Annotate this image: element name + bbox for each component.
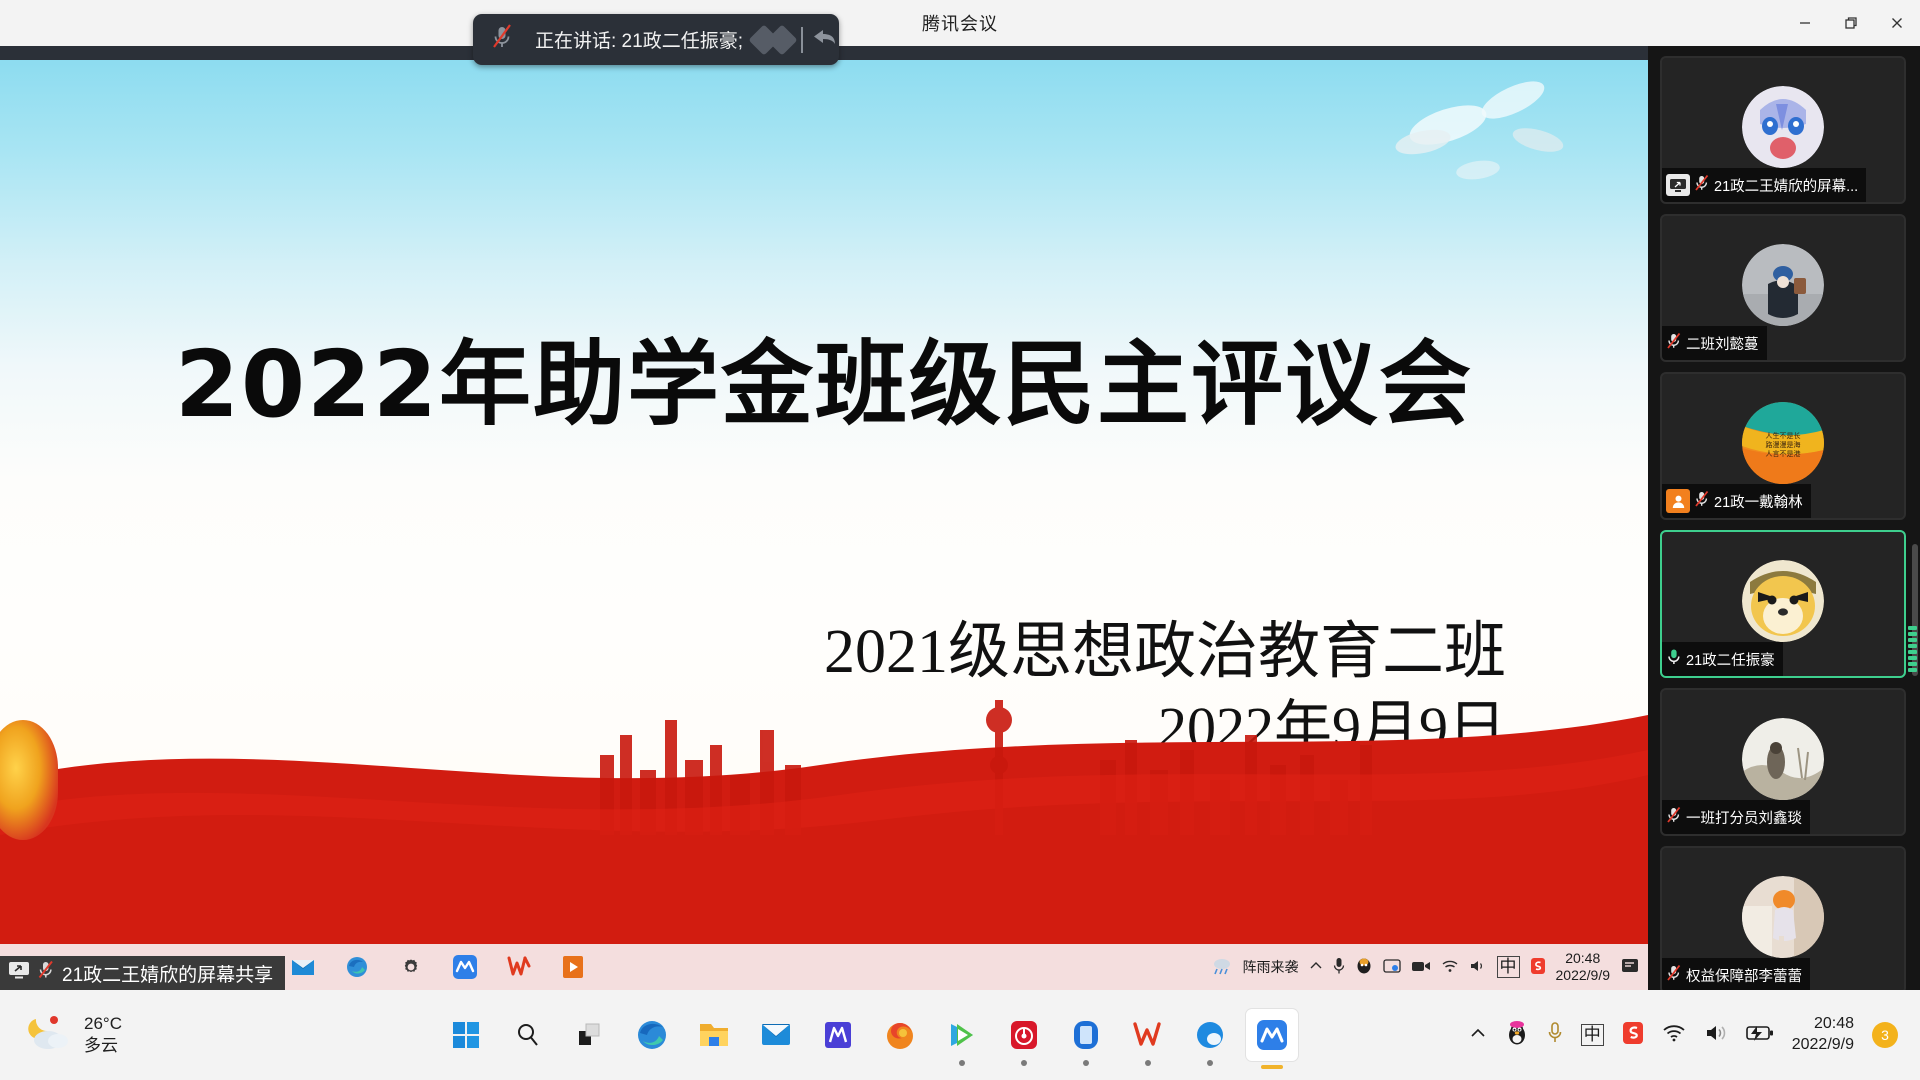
svg-text:人生不是长: 人生不是长: [1766, 431, 1801, 440]
running-indicator: [1083, 1060, 1089, 1066]
battery-charging-icon[interactable]: [1746, 1024, 1774, 1047]
markdown-app-icon[interactable]: [812, 1009, 864, 1061]
mic-muted-icon: [1666, 332, 1682, 355]
phone-link-icon[interactable]: [1060, 1009, 1112, 1061]
close-button[interactable]: [1874, 0, 1920, 46]
qq-icon[interactable]: [1355, 957, 1373, 978]
volume-icon[interactable]: [1469, 959, 1487, 976]
participant-tile[interactable]: 二班刘懿蔓: [1660, 214, 1906, 362]
settings-icon[interactable]: [384, 945, 438, 989]
chevron-up-icon[interactable]: [1309, 959, 1323, 975]
voice-level-meter: [1908, 606, 1917, 672]
participant-name: 21政二任振豪: [1686, 649, 1775, 670]
ime-indicator[interactable]: 中: [1581, 1024, 1604, 1046]
wps-icon[interactable]: [492, 945, 546, 989]
task-view-button[interactable]: [564, 1009, 616, 1061]
speaking-indicator-bar[interactable]: 正在讲话: 21政二任振豪;: [473, 14, 839, 65]
weather-text: 26°C 多云: [84, 1013, 122, 1057]
tencent-meeting-icon[interactable]: [1246, 1009, 1298, 1061]
slide-title: 2022年助学金班级民主评议会: [0, 310, 1648, 443]
pill-separator: [801, 27, 803, 53]
clock-time: 20:48: [1565, 950, 1600, 966]
mic-muted-icon[interactable]: [489, 23, 515, 56]
app-root: 腾讯会议: [0, 0, 1920, 1080]
mic-on-icon: [1666, 648, 1682, 671]
media-player-icon[interactable]: [936, 1009, 988, 1061]
qq-browser-icon[interactable]: [1184, 1009, 1236, 1061]
edge-icon[interactable]: [626, 1009, 678, 1061]
file-explorer-icon[interactable]: [688, 1009, 740, 1061]
participant-name: 一班打分员刘鑫琰: [1686, 807, 1802, 828]
avatar: 人生不是长 路漫漫是海 人言不是港: [1742, 402, 1824, 484]
participant-tile[interactable]: 人生不是长 路漫漫是海 人言不是港 21政一戴翰林: [1660, 372, 1906, 520]
screen-sharing-label: 21政二王婧欣的屏幕共享: [0, 956, 285, 990]
video-off-icon[interactable]: [753, 29, 793, 51]
wps-presentation-icon[interactable]: [546, 945, 600, 989]
firefox-icon[interactable]: [874, 1009, 926, 1061]
screen-share-icon: [8, 961, 30, 985]
system-tray: 中 20:48 2022/9/9 3: [1469, 1014, 1920, 1056]
camera-icon[interactable]: [1411, 959, 1431, 976]
back-arrow-icon[interactable]: [811, 25, 839, 54]
svg-text:路漫漫是海: 路漫漫是海: [1766, 440, 1801, 449]
qq-penguin-icon[interactable]: [1505, 1020, 1529, 1051]
participant-name-bar: 21政一戴翰林: [1662, 484, 1811, 518]
avatar: [1742, 86, 1824, 168]
avatar: [1742, 560, 1824, 642]
running-indicator: [1145, 1060, 1151, 1066]
doves-decoration: [1328, 70, 1588, 220]
participant-name-bar: 权益保障部李蕾蕾: [1662, 958, 1810, 990]
participant-name: 二班刘懿蔓: [1686, 333, 1759, 354]
start-button[interactable]: [440, 1009, 492, 1061]
taskbar-app-buttons: [440, 1009, 1298, 1061]
pill-actions: [753, 25, 839, 54]
speaking-text: 正在讲话: 21政二任振豪;: [535, 26, 743, 53]
participant-tile[interactable]: 21政二王婧欣的屏幕...: [1660, 56, 1906, 204]
mic-muted-icon: [1666, 964, 1682, 987]
lantern-decoration: [0, 720, 58, 840]
weather-text[interactable]: 阵雨来袭: [1243, 957, 1299, 977]
screenshot-icon[interactable]: [1383, 958, 1401, 977]
mic-icon[interactable]: [1333, 957, 1345, 978]
participant-tile[interactable]: 一班打分员刘鑫琰: [1660, 688, 1906, 836]
mic-muted-icon: [1694, 174, 1710, 197]
window-title: 腾讯会议: [0, 10, 1920, 36]
moon-cloud-icon: [28, 1013, 74, 1058]
windows-taskbar: 26°C 多云: [0, 990, 1920, 1080]
notification-icon[interactable]: [1620, 957, 1640, 978]
notification-badge[interactable]: 3: [1872, 1022, 1898, 1048]
mic-muted-icon: [1694, 490, 1710, 513]
participant-name-bar: 二班刘懿蔓: [1662, 326, 1767, 360]
rain-icon: [1211, 956, 1233, 979]
running-indicator: [1207, 1060, 1213, 1066]
running-indicator: [959, 1060, 965, 1066]
avatar: [1742, 244, 1824, 326]
participant-name-bar: 21政二王婧欣的屏幕...: [1662, 168, 1866, 202]
minimize-button[interactable]: [1782, 0, 1828, 46]
tencent-meeting-icon[interactable]: [438, 945, 492, 989]
clock-time: 20:48: [1814, 1015, 1854, 1032]
window-titlebar: 腾讯会议: [0, 0, 1920, 46]
maximize-button[interactable]: [1828, 0, 1874, 46]
presentation-slide: 2022年助学金班级民主评议会 2021级思想政治教育二班 2022年9月9日: [0, 60, 1648, 990]
search-button[interactable]: [502, 1009, 554, 1061]
weather-condition: 多云: [84, 1036, 118, 1055]
chevron-up-icon[interactable]: [1469, 1026, 1487, 1045]
participant-name: 21政一戴翰林: [1714, 491, 1803, 512]
sogou-icon[interactable]: [1530, 957, 1546, 978]
clock-date: 2022/9/9: [1792, 1036, 1854, 1053]
participant-name-bar: 21政二任振豪: [1662, 642, 1783, 676]
sharing-label-text: 21政二王婧欣的屏幕共享: [62, 960, 273, 987]
sogou-icon[interactable]: [1622, 1021, 1644, 1050]
mic-muted-icon: [1666, 806, 1682, 829]
volume-icon[interactable]: [1704, 1023, 1728, 1048]
shared-taskbar-clock[interactable]: 20:48 2022/9/9: [1556, 950, 1611, 985]
host-badge-icon: [1666, 489, 1690, 513]
weather-temperature: 26°C: [84, 1014, 122, 1033]
screen-share-icon: [1666, 174, 1690, 196]
shared-taskbar-tray: 阵雨来袭: [1211, 950, 1649, 985]
participants-panel[interactable]: 21政二王婧欣的屏幕... 二班刘懿蔓: [1648, 46, 1920, 990]
mic-icon[interactable]: [1547, 1021, 1563, 1050]
mail-icon[interactable]: [750, 1009, 802, 1061]
avatar: [1742, 718, 1824, 800]
taskbar-clock[interactable]: 20:48 2022/9/9: [1792, 1014, 1854, 1056]
mic-muted-icon: [37, 960, 55, 986]
red-ribbon-decoration: [0, 660, 1648, 990]
participant-tile-active-speaker[interactable]: 21政二任振豪: [1660, 530, 1906, 678]
participant-name-bar: 一班打分员刘鑫琰: [1662, 800, 1810, 834]
active-indicator: [1261, 1065, 1283, 1069]
participant-name: 权益保障部李蕾蕾: [1686, 965, 1802, 986]
wifi-icon[interactable]: [1662, 1023, 1686, 1048]
participant-tile[interactable]: 权益保障部李蕾蕾: [1660, 846, 1906, 990]
edge-icon[interactable]: [330, 945, 384, 989]
svg-text:人言不是港: 人言不是港: [1766, 449, 1801, 458]
ime-indicator[interactable]: 中: [1497, 956, 1520, 978]
wifi-icon[interactable]: [1441, 959, 1459, 976]
running-indicator: [1021, 1060, 1027, 1066]
avatar: [1742, 876, 1824, 958]
clock-date: 2022/9/9: [1556, 967, 1611, 983]
netease-music-icon[interactable]: [998, 1009, 1050, 1061]
shared-screen-area: 2022年助学金班级民主评议会 2021级思想政治教育二班 2022年9月9日: [0, 46, 1648, 990]
wps-office-icon[interactable]: [1122, 1009, 1174, 1061]
participant-name: 21政二王婧欣的屏幕...: [1714, 175, 1858, 196]
window-controls: [1782, 0, 1920, 46]
taskbar-weather-widget[interactable]: 26°C 多云: [0, 1013, 330, 1058]
